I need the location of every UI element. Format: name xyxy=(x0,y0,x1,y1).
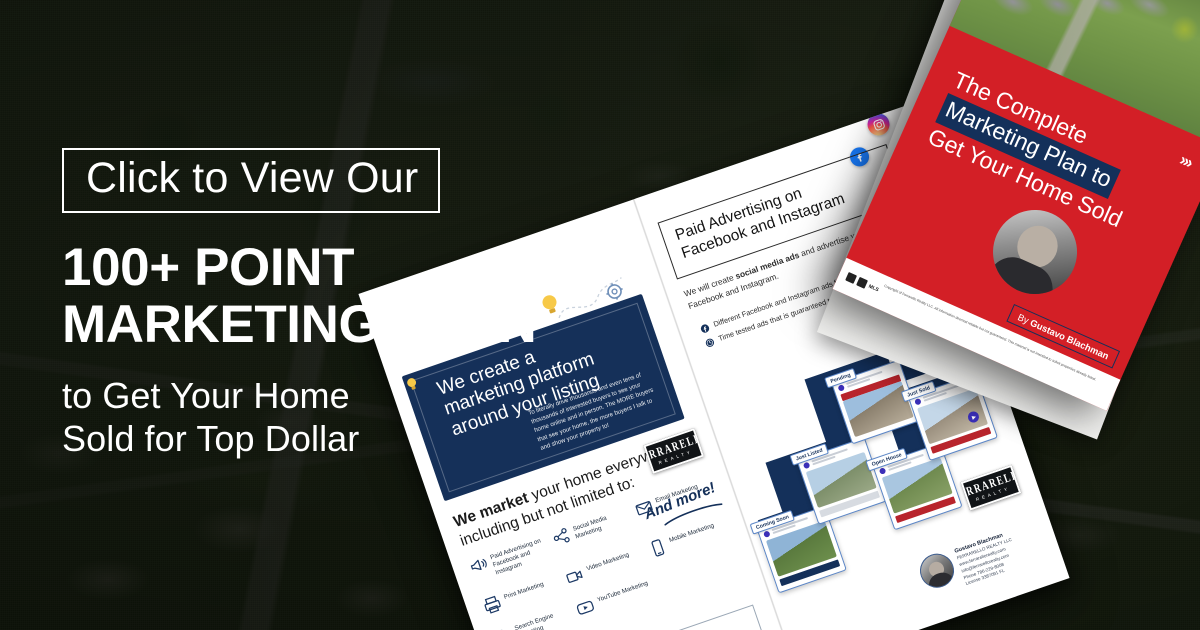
cover-footer-marks: MLS xyxy=(845,272,880,294)
subtitle-line1: to Get Your Home xyxy=(62,374,582,417)
page-subtitle: to Get Your Home Sold for Top Dollar xyxy=(62,374,582,460)
equal-housing-icon xyxy=(845,272,857,284)
clock-icon xyxy=(704,337,715,348)
envelope-icon xyxy=(632,496,656,520)
right-logo-name: FERRARELLO xyxy=(960,465,1021,503)
subtitle-line2: Sold for Top Dollar xyxy=(62,417,582,460)
right-page-brand-logo: FERRARELLO REALTY xyxy=(960,465,1021,511)
card-avatar xyxy=(879,467,887,475)
title-line2: MARKETING PLAN xyxy=(62,296,582,353)
channel-label: Video Marketing xyxy=(584,548,630,573)
mobile-phone-icon xyxy=(645,535,669,559)
cover-chevrons-icon: ››› xyxy=(1176,150,1194,173)
play-icon xyxy=(967,410,981,424)
headline-block: Click to View Our 100+ POINT MARKETING P… xyxy=(62,148,582,460)
channel-label: Print Marketing xyxy=(502,578,545,602)
cta-label: Click to View Our xyxy=(86,156,418,201)
youtube-icon xyxy=(573,595,597,619)
page-title: 100+ POINT MARKETING PLAN xyxy=(62,239,582,353)
card-avatar xyxy=(803,462,811,470)
cta-button[interactable]: Click to View Our xyxy=(62,148,440,213)
video-camera-icon xyxy=(563,564,587,588)
card-avatar xyxy=(838,384,846,392)
hero-banner: ››› The Complete Marketing Plan to Get Y… xyxy=(0,0,1200,630)
listing-ad-card: Open House xyxy=(872,443,962,531)
mls-label: MLS xyxy=(868,283,880,293)
share-nodes-icon xyxy=(549,525,573,549)
channel-label: Mobile Marketing xyxy=(667,519,715,545)
upcoming-pages-box: Check the upcoming pages for more detail… xyxy=(587,604,772,630)
channel-label: Paid Advertising on Facebook and Instagr… xyxy=(488,533,552,578)
card-avatar xyxy=(763,531,771,539)
realtor-icon xyxy=(856,277,868,289)
megaphone-icon xyxy=(467,553,491,577)
channel-label: Search Engine Marketing xyxy=(513,603,574,630)
channel-label: Email Marketing xyxy=(654,480,700,505)
facebook-icon xyxy=(699,323,710,334)
channel-label: YouTube Marketing xyxy=(595,577,649,605)
agent-contact-block: Gustavo Blachman FERRARELLO REALTY LLC w… xyxy=(915,519,1048,601)
agent-avatar xyxy=(915,549,958,592)
magnifier-icon xyxy=(491,624,515,630)
upcoming-pages-note: Check the upcoming pages for more detail… xyxy=(603,626,752,630)
printer-icon xyxy=(480,592,504,616)
card-avatar xyxy=(914,398,922,406)
agent-details: Gustavo Blachman FERRARELLO REALTY LLC w… xyxy=(953,528,1022,588)
title-line1: 100+ POINT xyxy=(62,239,582,296)
